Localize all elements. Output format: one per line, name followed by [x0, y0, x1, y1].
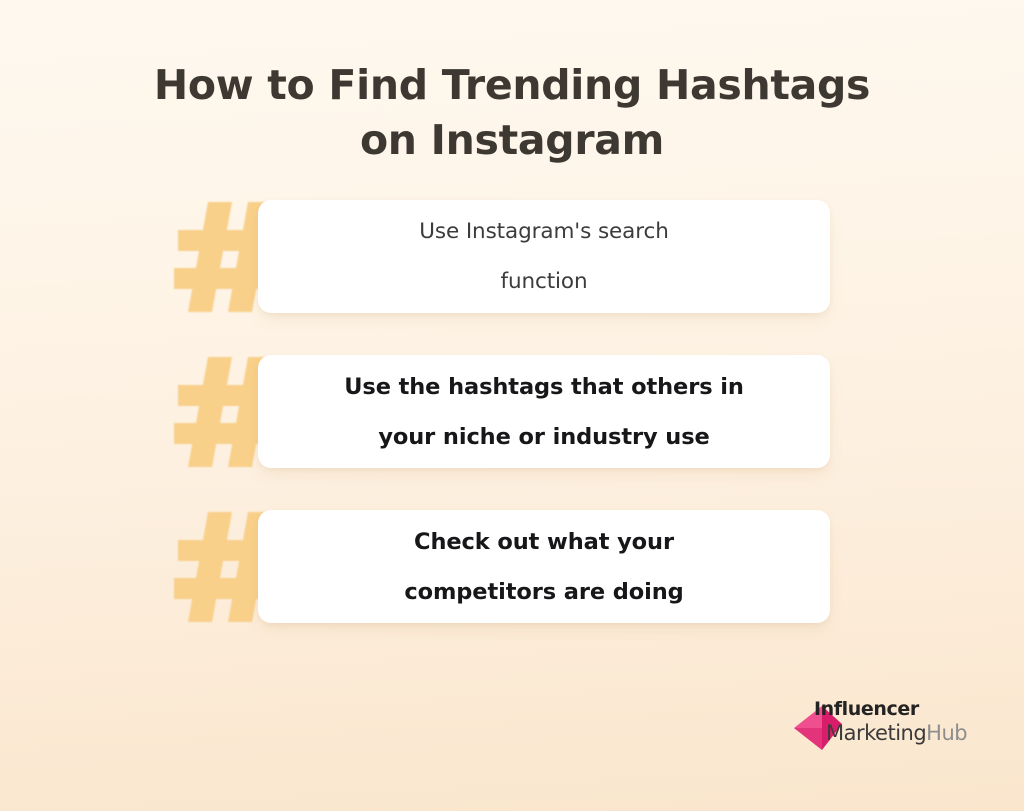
tip-card-text-line-2: competitors are doing [280, 567, 808, 617]
tip-card-text-line-1: Use the hashtags that others in [280, 362, 808, 412]
tip-card-text: Check out what your competitors are doin… [280, 517, 808, 617]
brand-logo-line-2: MarketingHub [814, 720, 986, 746]
tip-card-text: Use the hashtags that others in your nic… [280, 362, 808, 462]
brand-logo-text: Influencer MarketingHub [814, 698, 986, 746]
page-title-line-2: on Instagram [0, 113, 1024, 168]
list-item: Use Instagram's search function [0, 200, 1024, 313]
tip-card: Use Instagram's search function [258, 200, 830, 313]
tip-card-text-line-1: Check out what your [280, 517, 808, 567]
tip-card: Check out what your competitors are doin… [258, 510, 830, 623]
list-item: Use the hashtags that others in your nic… [0, 355, 1024, 468]
tip-card-text: Use Instagram's search function [280, 207, 808, 307]
tip-card-text-line-2: your niche or industry use [280, 412, 808, 462]
tip-card: Use the hashtags that others in your nic… [258, 355, 830, 468]
brand-logo-line-1: Influencer [814, 698, 986, 720]
list-item: Check out what your competitors are doin… [0, 510, 1024, 623]
infographic-poster: How to Find Trending Hashtags on Instagr… [0, 0, 1024, 811]
page-title-line-1: How to Find Trending Hashtags [0, 58, 1024, 113]
page-title: How to Find Trending Hashtags on Instagr… [0, 58, 1024, 168]
brand-logo-hub: Hub [926, 721, 967, 745]
tip-card-text-line-1: Use Instagram's search [280, 207, 808, 257]
tips-list: Use Instagram's search function [0, 200, 1024, 623]
tip-card-text-line-2: function [280, 257, 808, 307]
brand-logo: Influencer MarketingHub [792, 698, 984, 754]
brand-logo-marketing: Marketing [826, 721, 926, 745]
